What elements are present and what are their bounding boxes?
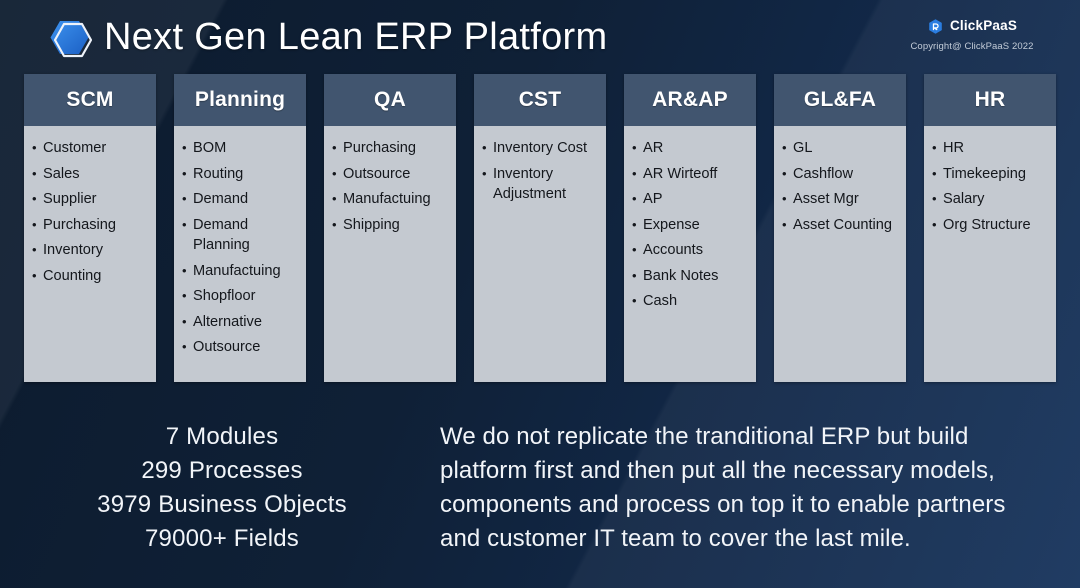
module-column-body: PurchasingOutsourceManufactuingShipping <box>324 126 456 382</box>
clickpaas-hexagon-icon <box>927 18 944 35</box>
module-column-hr: HRHRTimekeepingSalaryOrg Structure <box>924 74 1056 382</box>
module-column-title: QA <box>324 74 456 126</box>
hexagon-logo-icon <box>40 16 92 68</box>
module-item: Salary <box>932 189 1050 210</box>
module-item-list: Inventory CostInventory Adjustment <box>482 138 600 205</box>
module-item: Purchasing <box>32 215 150 236</box>
module-column-ar-ap: AR&APARAR WirteoffAPExpenseAccountsBank … <box>624 74 756 382</box>
module-item: Purchasing <box>332 138 450 159</box>
module-item-list: BOMRoutingDemandDemand PlanningManufactu… <box>182 138 300 358</box>
module-item: Outsource <box>332 164 450 185</box>
module-item: Asset Counting <box>782 215 900 236</box>
module-item: HR <box>932 138 1050 159</box>
module-columns: SCMCustomerSalesSupplierPurchasingInvent… <box>24 74 1056 382</box>
module-item: Timekeeping <box>932 164 1050 185</box>
module-column-title: AR&AP <box>624 74 756 126</box>
module-item-list: ARAR WirteoffAPExpenseAccountsBank Notes… <box>632 138 750 312</box>
module-column-planning: PlanningBOMRoutingDemandDemand PlanningM… <box>174 74 306 382</box>
module-item: Routing <box>182 164 300 185</box>
stat-line: 7 Modules <box>24 420 420 454</box>
positioning-statement: We do not replicate the tranditional ERP… <box>440 420 1052 556</box>
module-column-title: SCM <box>24 74 156 126</box>
module-column-scm: SCMCustomerSalesSupplierPurchasingInvent… <box>24 74 156 382</box>
module-column-body: CustomerSalesSupplierPurchasingInventory… <box>24 126 156 382</box>
slide-root: Next Gen Lean ERP Platform ClickPaaS Cop… <box>0 0 1080 588</box>
module-item: Counting <box>32 266 150 287</box>
module-item: Inventory Cost <box>482 138 600 159</box>
module-column-body: HRTimekeepingSalaryOrg Structure <box>924 126 1056 382</box>
module-item: Demand Planning <box>182 215 300 256</box>
module-item: Manufactuing <box>332 189 450 210</box>
module-item: Cash <box>632 291 750 312</box>
module-item: Alternative <box>182 312 300 333</box>
module-item: AR Wirteoff <box>632 164 750 185</box>
module-column-body: BOMRoutingDemandDemand PlanningManufactu… <box>174 126 306 382</box>
module-item: Accounts <box>632 240 750 261</box>
module-item: BOM <box>182 138 300 159</box>
module-column-title: HR <box>924 74 1056 126</box>
module-item: Bank Notes <box>632 266 750 287</box>
module-item: Asset Mgr <box>782 189 900 210</box>
module-column-title: CST <box>474 74 606 126</box>
module-item-list: PurchasingOutsourceManufactuingShipping <box>332 138 450 235</box>
module-item: GL <box>782 138 900 159</box>
stat-line: 79000+ Fields <box>24 522 420 556</box>
stats-block: 7 Modules299 Processes3979 Business Obje… <box>24 420 420 556</box>
module-item: Expense <box>632 215 750 236</box>
module-column-title: GL&FA <box>774 74 906 126</box>
module-item: AP <box>632 189 750 210</box>
module-item: Shopfloor <box>182 286 300 307</box>
module-item: Cashflow <box>782 164 900 185</box>
slide-header: Next Gen Lean ERP Platform ClickPaaS Cop… <box>0 0 1080 72</box>
brand-block: ClickPaaS Copyright@ ClickPaaS 2022 <box>882 16 1062 52</box>
module-column-body: GLCashflowAsset MgrAsset Counting <box>774 126 906 382</box>
module-item: Supplier <box>32 189 150 210</box>
module-column-cst: CSTInventory CostInventory Adjustment <box>474 74 606 382</box>
module-column-gl-fa: GL&FAGLCashflowAsset MgrAsset Counting <box>774 74 906 382</box>
module-item: Customer <box>32 138 150 159</box>
module-item-list: HRTimekeepingSalaryOrg Structure <box>932 138 1050 235</box>
brand-name: ClickPaaS <box>950 19 1017 33</box>
stat-line: 3979 Business Objects <box>24 488 420 522</box>
module-column-body: ARAR WirteoffAPExpenseAccountsBank Notes… <box>624 126 756 382</box>
module-column-body: Inventory CostInventory Adjustment <box>474 126 606 382</box>
module-item: Inventory <box>32 240 150 261</box>
module-item: Sales <box>32 164 150 185</box>
module-item: Org Structure <box>932 215 1050 236</box>
module-item: Demand <box>182 189 300 210</box>
copyright-text: Copyright@ ClickPaaS 2022 <box>882 41 1062 52</box>
module-item: Manufactuing <box>182 261 300 282</box>
module-item: Outsource <box>182 337 300 358</box>
module-item: Shipping <box>332 215 450 236</box>
module-column-title: Planning <box>174 74 306 126</box>
module-item: AR <box>632 138 750 159</box>
module-item: Inventory Adjustment <box>482 164 600 205</box>
stat-line: 299 Processes <box>24 454 420 488</box>
module-item-list: CustomerSalesSupplierPurchasingInventory… <box>32 138 150 286</box>
module-column-qa: QAPurchasingOutsourceManufactuingShippin… <box>324 74 456 382</box>
page-title: Next Gen Lean ERP Platform <box>104 13 607 61</box>
module-item-list: GLCashflowAsset MgrAsset Counting <box>782 138 900 235</box>
